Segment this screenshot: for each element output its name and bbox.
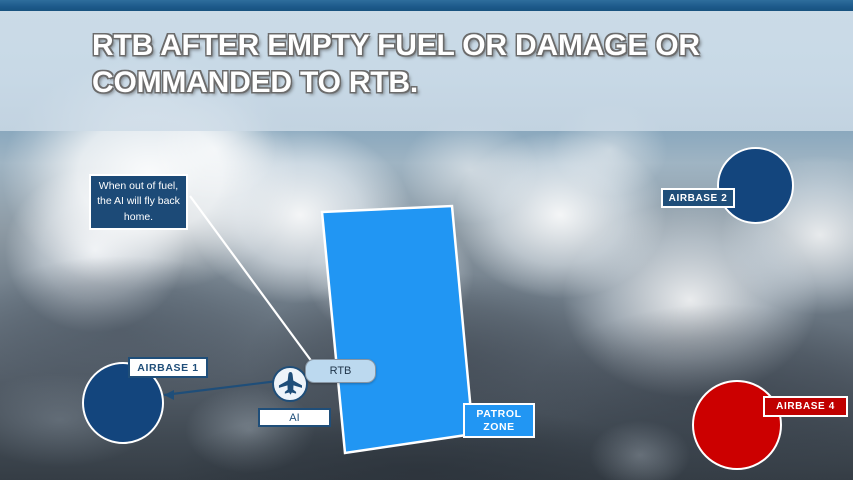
patrol-zone-label-line1: PATROL bbox=[476, 408, 521, 420]
jet-icon bbox=[275, 369, 305, 399]
ai-unit-label: AI bbox=[258, 408, 331, 427]
ai-aircraft-icon[interactable] bbox=[272, 366, 308, 402]
rtb-action-bubble[interactable]: RTB bbox=[305, 359, 376, 383]
out-of-fuel-callout: When out of fuel, the AI will fly back h… bbox=[89, 174, 188, 230]
airbase-2-label: AIRBASE 2 bbox=[661, 188, 735, 208]
slide-canvas: RTB AFTER EMPTY FUEL OR DAMAGE OR COMMAN… bbox=[0, 0, 853, 480]
patrol-zone-shape-layer bbox=[0, 0, 853, 480]
airbase-1-label: AIRBASE 1 bbox=[128, 357, 208, 378]
airbase-4-label: AIRBASE 4 bbox=[763, 396, 848, 417]
callout-text: When out of fuel, the AI will fly back h… bbox=[97, 179, 180, 225]
patrol-zone-label-line2: ZONE bbox=[483, 421, 515, 433]
patrol-zone-polygon[interactable] bbox=[322, 206, 473, 453]
patrol-zone-label: PATROL ZONE bbox=[463, 403, 535, 438]
